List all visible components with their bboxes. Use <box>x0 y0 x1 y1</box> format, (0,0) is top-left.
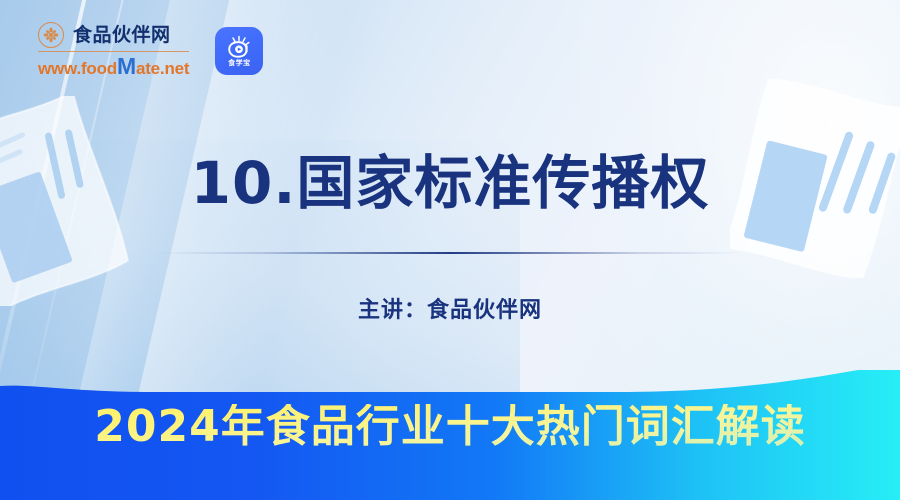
slide-title: 10.国家标准传播权 <box>0 152 900 216</box>
banner-title: 2024年食品行业十大热门词汇解读 <box>0 404 900 450</box>
flower-mark-icon <box>38 22 64 48</box>
foodmate-url-prefix: www.food <box>38 59 117 78</box>
shixuebao-label: 食学宝 <box>228 60 251 67</box>
bottom-banner: 2024年食品行业十大热门词汇解读 <box>0 370 900 500</box>
presentation-slide: 食品伙伴网 www.foodMate.net 食学宝 10.国 <box>0 0 900 500</box>
shixuebao-app-icon[interactable]: 食学宝 <box>215 27 263 75</box>
foodmate-logo-top: 食品伙伴网 <box>38 22 189 48</box>
eye-play-icon <box>224 35 254 59</box>
header-logos: 食品伙伴网 www.foodMate.net 食学宝 <box>38 22 263 79</box>
foodmate-url: www.foodMate.net <box>38 54 189 79</box>
foodmate-chinese-name: 食品伙伴网 <box>73 26 171 45</box>
foodmate-url-suffix: ate.net <box>136 59 189 78</box>
foodmate-url-capital: M <box>117 53 136 79</box>
title-divider <box>157 252 743 254</box>
title-block: 10.国家标准传播权 主讲：食品伙伴网 <box>0 152 900 324</box>
slide-subtitle: 主讲：食品伙伴网 <box>0 292 900 324</box>
foodmate-logo[interactable]: 食品伙伴网 www.foodMate.net <box>38 22 189 79</box>
foodmate-logo-rule <box>38 51 189 52</box>
